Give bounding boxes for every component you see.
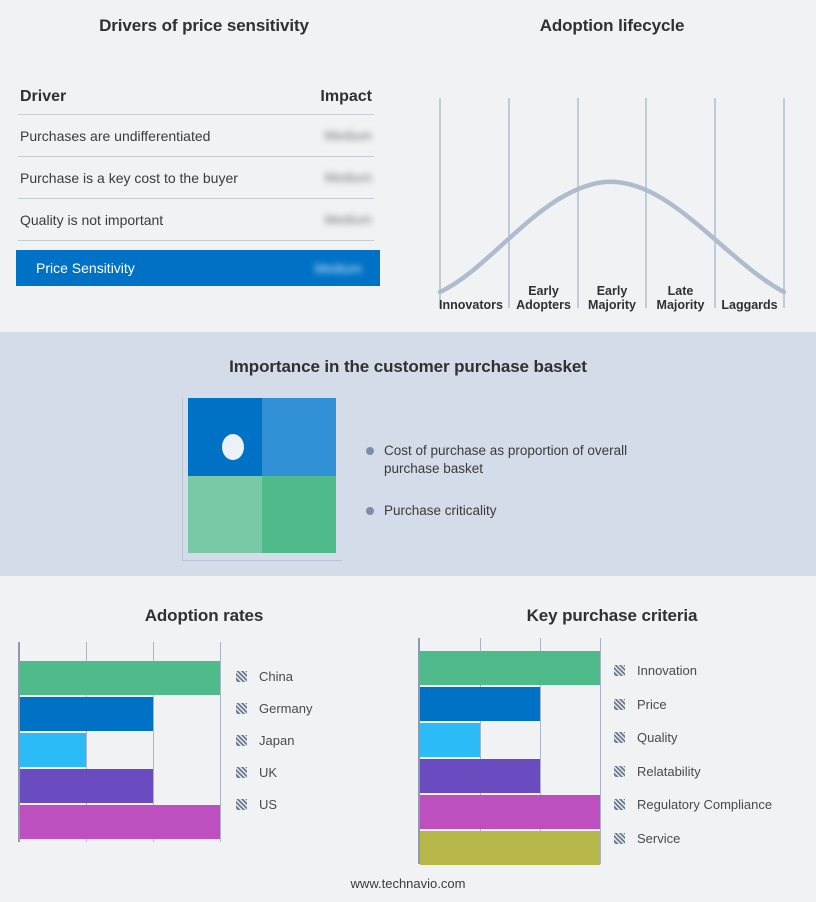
key-purchase-criteria-legend: Innovation Price Quality Relatability Re… — [614, 654, 772, 855]
list-item: Innovation — [614, 654, 772, 688]
panel-adoption-lifecycle: Adoption lifecycle — [408, 0, 816, 332]
plot-area — [418, 638, 602, 864]
bar-china — [20, 661, 220, 695]
driver-label: Purchase is a key cost to the buyer — [20, 170, 238, 186]
list-item: Service — [614, 822, 772, 856]
legend-label: UK — [259, 765, 277, 780]
segment-label-line1: Innovators — [436, 298, 506, 312]
plot-area — [18, 642, 222, 842]
gridline — [600, 638, 601, 864]
bar-innovation — [420, 651, 600, 685]
segment-label-line1: Early — [509, 284, 578, 298]
quadrant-top-right — [262, 398, 336, 476]
bar-japan — [20, 733, 86, 767]
list-item: Regulatory Compliance — [614, 788, 772, 822]
list-item: Purchase criticality — [366, 502, 666, 520]
list-item: Relatability — [614, 755, 772, 789]
footer-website-url: www.technavio.com — [0, 876, 816, 891]
lifecycle-segment-late-majority: Late Majority — [646, 284, 715, 312]
bottom-row: Adoption rates China — [0, 576, 816, 902]
bullet-icon — [366, 447, 374, 455]
lifecycle-segment-early-adopters: Early Adopters — [509, 284, 578, 312]
drivers-table-header: Driver Impact — [18, 88, 374, 115]
impact-value-redacted: Medium — [315, 261, 362, 276]
hatched-swatch-icon — [236, 799, 247, 810]
list-item: Price — [614, 688, 772, 722]
driver-label: Purchases are undifferentiated — [20, 128, 210, 144]
bar-regulatory-compliance — [420, 795, 600, 829]
quadrant-bottom-right — [262, 476, 336, 554]
segment-label-line2: Adopters — [509, 298, 578, 312]
legend-label: Purchase criticality — [384, 502, 497, 520]
lifecycle-segment-innovators: Innovators — [436, 298, 506, 312]
position-marker-dot — [222, 434, 244, 460]
panel-importance-in-purchase-basket: Importance in the customer purchase bask… — [0, 332, 816, 576]
legend-label: China — [259, 669, 293, 684]
adoption-lifecycle-chart: Innovators Early Adopters Early Majority… — [432, 80, 792, 312]
quadrant-bottom-left — [188, 476, 262, 554]
lifecycle-segment-early-majority: Early Majority — [578, 284, 646, 312]
legend-label: Innovation — [637, 663, 697, 678]
table-row-highlighted-price-sensitivity: Price Sensitivity Medium — [16, 250, 380, 286]
infographic-page: Drivers of price sensitivity Driver Impa… — [0, 0, 816, 902]
quadrant-y-axis — [182, 398, 183, 560]
adoption-rates-bar-chart — [18, 642, 222, 842]
adoption-rates-legend: China Germany Japan UK US — [236, 660, 312, 820]
lifecycle-segment-laggards: Laggards — [715, 298, 784, 312]
bar-price — [420, 687, 540, 721]
page-title-purchase-basket: Importance in the customer purchase bask… — [0, 357, 816, 377]
purchase-basket-legend: Cost of purchase as proportion of overal… — [366, 442, 666, 544]
bar-us — [20, 805, 220, 839]
bar-quality — [420, 723, 480, 757]
bar-uk — [20, 769, 153, 803]
hatched-swatch-icon — [614, 732, 625, 743]
hatched-swatch-icon — [614, 799, 625, 810]
page-title-key-purchase-criteria: Key purchase criteria — [408, 606, 816, 626]
legend-label: Regulatory Compliance — [637, 797, 772, 812]
table-row: Quality is not important Medium — [18, 199, 374, 241]
driver-label: Quality is not important — [20, 212, 163, 228]
table-row: Purchase is a key cost to the buyer Medi… — [18, 157, 374, 199]
list-item: China — [236, 660, 312, 692]
impact-value-redacted: Medium — [325, 212, 372, 227]
panel-key-purchase-criteria: Key purchase criteria — [408, 576, 816, 902]
hatched-swatch-icon — [614, 699, 625, 710]
segment-label-line2: Majority — [646, 298, 715, 312]
hatched-swatch-icon — [236, 703, 247, 714]
legend-label: Germany — [259, 701, 312, 716]
segment-label-line1: Early — [578, 284, 646, 298]
list-item: Japan — [236, 724, 312, 756]
panel-drivers-of-price-sensitivity: Drivers of price sensitivity Driver Impa… — [0, 0, 408, 332]
list-item: US — [236, 788, 312, 820]
legend-label: Price — [637, 697, 667, 712]
legend-label: Relatability — [637, 764, 701, 779]
list-item: Cost of purchase as proportion of overal… — [366, 442, 666, 478]
segment-label-line2: Majority — [578, 298, 646, 312]
quadrant-x-axis — [182, 560, 342, 561]
table-row: Purchases are undifferentiated Medium — [18, 115, 374, 157]
page-title-adoption-lifecycle: Adoption lifecycle — [408, 16, 816, 36]
quadrant-chart — [182, 398, 342, 566]
segment-label-line1: Late — [646, 284, 715, 298]
hatched-swatch-icon — [236, 767, 247, 778]
top-row: Drivers of price sensitivity Driver Impa… — [0, 0, 816, 332]
key-purchase-criteria-bar-chart — [418, 638, 602, 864]
legend-label: Cost of purchase as proportion of overal… — [384, 442, 644, 478]
page-title-adoption-rates: Adoption rates — [0, 606, 408, 626]
lifecycle-segment-labels: Innovators Early Adopters Early Majority… — [432, 80, 792, 312]
list-item: Germany — [236, 692, 312, 724]
hatched-swatch-icon — [236, 671, 247, 682]
impact-value-redacted: Medium — [325, 170, 372, 185]
hatched-swatch-icon — [614, 833, 625, 844]
legend-label: US — [259, 797, 277, 812]
hatched-swatch-icon — [236, 735, 247, 746]
bullet-icon — [366, 507, 374, 515]
legend-label: Service — [637, 831, 680, 846]
drivers-table: Driver Impact Purchases are undifferenti… — [18, 88, 374, 286]
bar-germany — [20, 697, 153, 731]
bar-service — [420, 831, 600, 865]
page-title-drivers: Drivers of price sensitivity — [0, 16, 408, 36]
list-item: UK — [236, 756, 312, 788]
legend-label: Quality — [637, 730, 677, 745]
impact-value-redacted: Medium — [325, 128, 372, 143]
bar-relatability — [420, 759, 540, 793]
panel-adoption-rates: Adoption rates China — [0, 576, 408, 902]
hatched-swatch-icon — [614, 766, 625, 777]
driver-label: Price Sensitivity — [36, 260, 135, 276]
gridline — [220, 642, 221, 842]
segment-label-line1: Laggards — [715, 298, 784, 312]
column-header-impact: Impact — [320, 88, 372, 106]
column-header-driver: Driver — [20, 88, 66, 106]
quadrant-grid — [188, 398, 336, 553]
list-item: Quality — [614, 721, 772, 755]
legend-label: Japan — [259, 733, 294, 748]
hatched-swatch-icon — [614, 665, 625, 676]
